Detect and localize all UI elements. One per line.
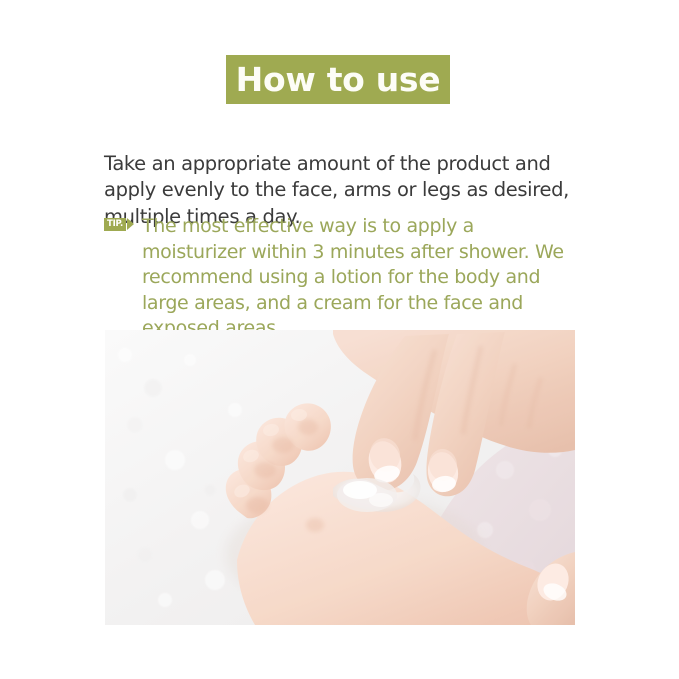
how-to-use-page: How to use Take an appropriate amount of… [0,0,679,679]
usage-photo [105,330,575,625]
tip-badge: TIP. [104,218,134,231]
usage-photo-illustration [105,330,575,625]
tip-arrow-icon [127,218,134,230]
tip-badge-label: TIP. [104,218,126,231]
tip-text: The most effective way is to apply a moi… [104,214,574,342]
page-title: How to use [236,63,441,96]
tip-block: TIP. The most effective way is to apply … [104,214,574,342]
page-title-band: How to use [226,55,450,104]
